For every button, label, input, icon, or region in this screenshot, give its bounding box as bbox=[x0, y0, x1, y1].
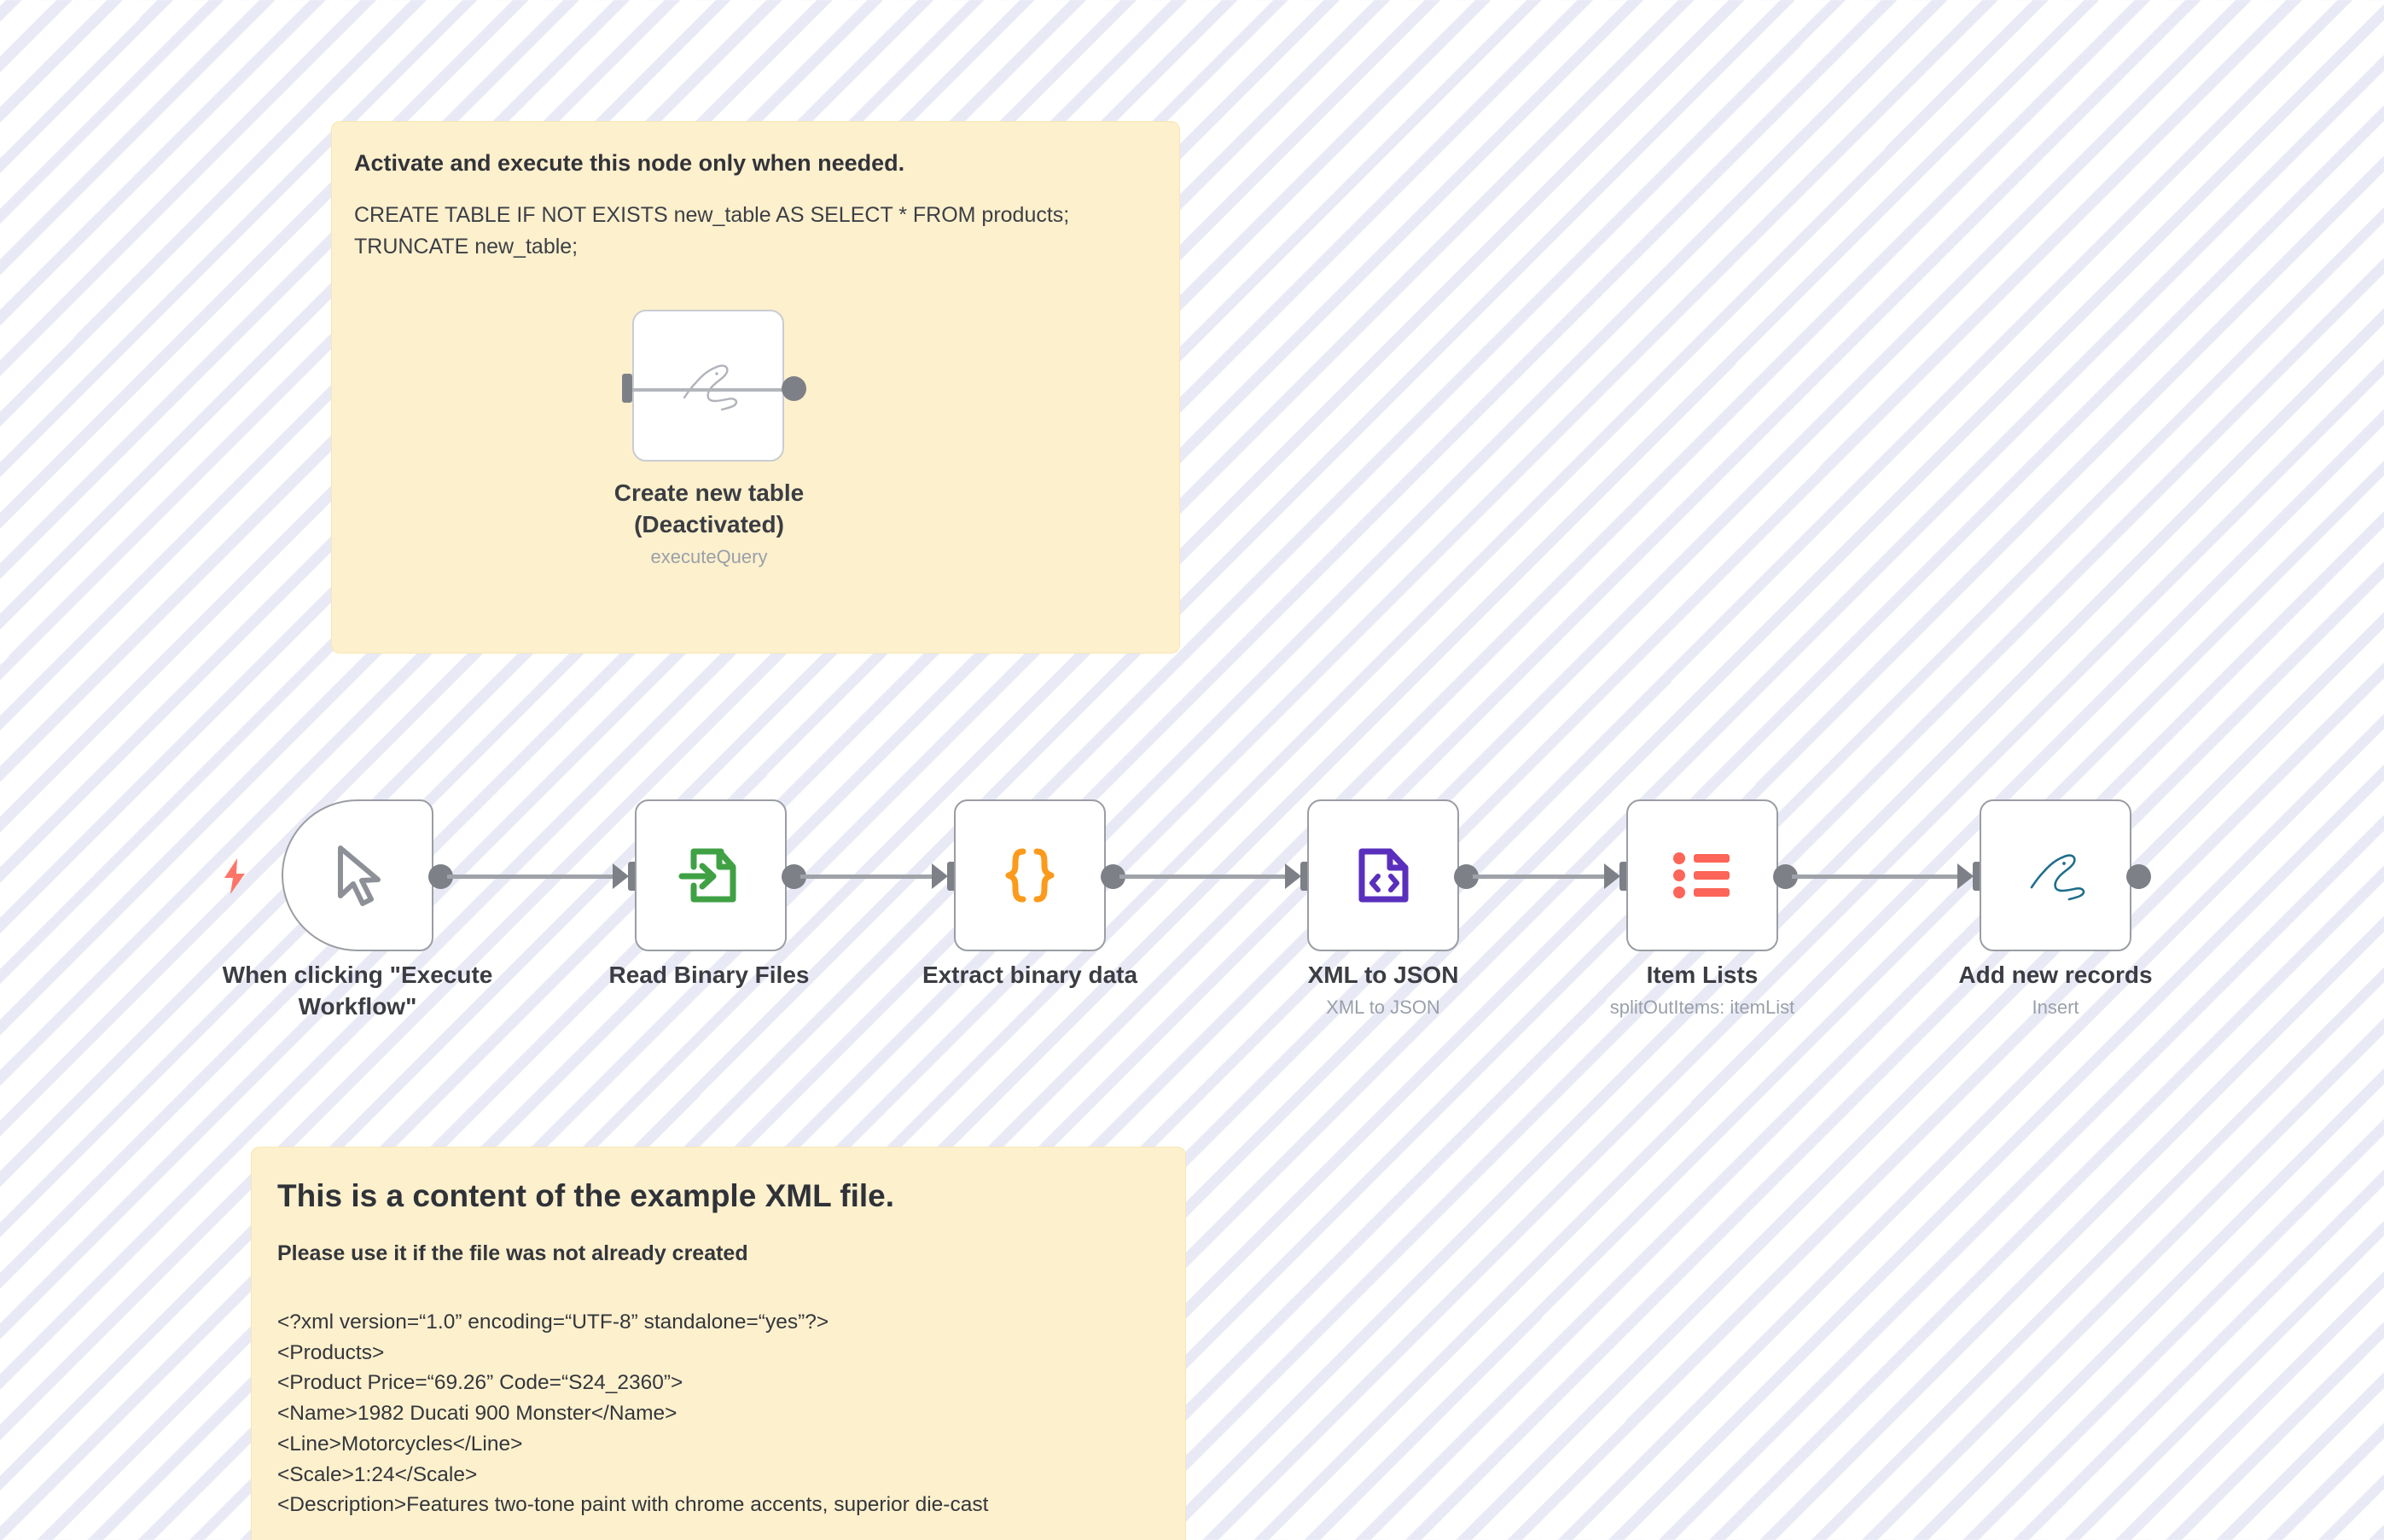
node-title: Item Lists bbox=[1549, 960, 1856, 991]
node-subtitle: splitOutItems: itemList bbox=[1549, 995, 1856, 1021]
connector-extract-binary-data-to-xml-to-json[interactable] bbox=[1119, 875, 1290, 879]
node-title: Read Binary Files bbox=[555, 960, 863, 991]
mysql-dolphin-icon bbox=[2013, 833, 2098, 918]
node-title: Extract binary data bbox=[876, 960, 1183, 991]
connector-arrow bbox=[613, 863, 629, 889]
connector-trigger-to-read-binary-files[interactable] bbox=[447, 875, 618, 879]
node-title: Add new records bbox=[1902, 960, 2209, 991]
node-output-port[interactable] bbox=[782, 376, 806, 401]
deactivated-strikethrough bbox=[623, 388, 797, 392]
connector-arrow bbox=[1957, 863, 1974, 889]
node-xml-to-json-box[interactable] bbox=[1307, 799, 1459, 951]
connector-arrow bbox=[1285, 863, 1301, 889]
node-item-lists-box[interactable] bbox=[1626, 799, 1778, 951]
cursor-pointer-icon bbox=[315, 833, 400, 918]
node-add-new-records-box[interactable] bbox=[1980, 799, 2131, 951]
connector-arrow bbox=[932, 863, 948, 889]
sticky-note-xml-example[interactable]: This is a content of the example XML fil… bbox=[251, 1147, 1186, 1540]
node-trigger-box[interactable] bbox=[282, 799, 433, 951]
node-extract-binary-data-box[interactable] bbox=[954, 799, 1106, 951]
mysql-dolphin-icon bbox=[666, 343, 751, 428]
node-input-port[interactable] bbox=[622, 374, 632, 403]
node-subtitle: XML to JSON bbox=[1230, 995, 1537, 1021]
code-file-icon bbox=[1340, 833, 1426, 918]
sticky-note-heading: Activate and execute this node only when… bbox=[354, 148, 1157, 178]
node-create-new-table-box[interactable] bbox=[632, 310, 784, 462]
sticky-note-title: This is a content of the example XML fil… bbox=[277, 1177, 1160, 1216]
workflow-canvas[interactable]: Activate and execute this node only when… bbox=[0, 0, 2384, 1540]
connector-read-binary-files-to-extract-binary-data[interactable] bbox=[800, 875, 937, 879]
connector-xml-to-json-to-item-lists[interactable] bbox=[1473, 875, 1609, 879]
node-title: XML to JSON bbox=[1230, 960, 1537, 991]
node-subtitle: Insert bbox=[1902, 995, 2209, 1021]
bullet-list-icon bbox=[1660, 833, 1745, 918]
file-import-icon bbox=[668, 833, 753, 918]
sticky-note-xml-content: <?xml version=“1.0” encoding=“UTF-8” sta… bbox=[277, 1307, 1160, 1520]
node-read-binary-files-box[interactable] bbox=[635, 799, 787, 951]
node-output-port[interactable] bbox=[2126, 864, 2151, 889]
lightning-bolt-icon bbox=[220, 857, 249, 895]
sticky-note-subtitle: Please use it if the file was not alread… bbox=[277, 1240, 1160, 1268]
connector-arrow bbox=[1604, 863, 1620, 889]
curly-braces-icon bbox=[987, 833, 1073, 918]
sticky-note-body: CREATE TABLE IF NOT EXISTS new_table AS … bbox=[354, 200, 1157, 262]
node-title: When clicking "Execute Workflow" bbox=[161, 960, 554, 1023]
connector-item-lists-to-add-new-records[interactable] bbox=[1792, 875, 1962, 879]
